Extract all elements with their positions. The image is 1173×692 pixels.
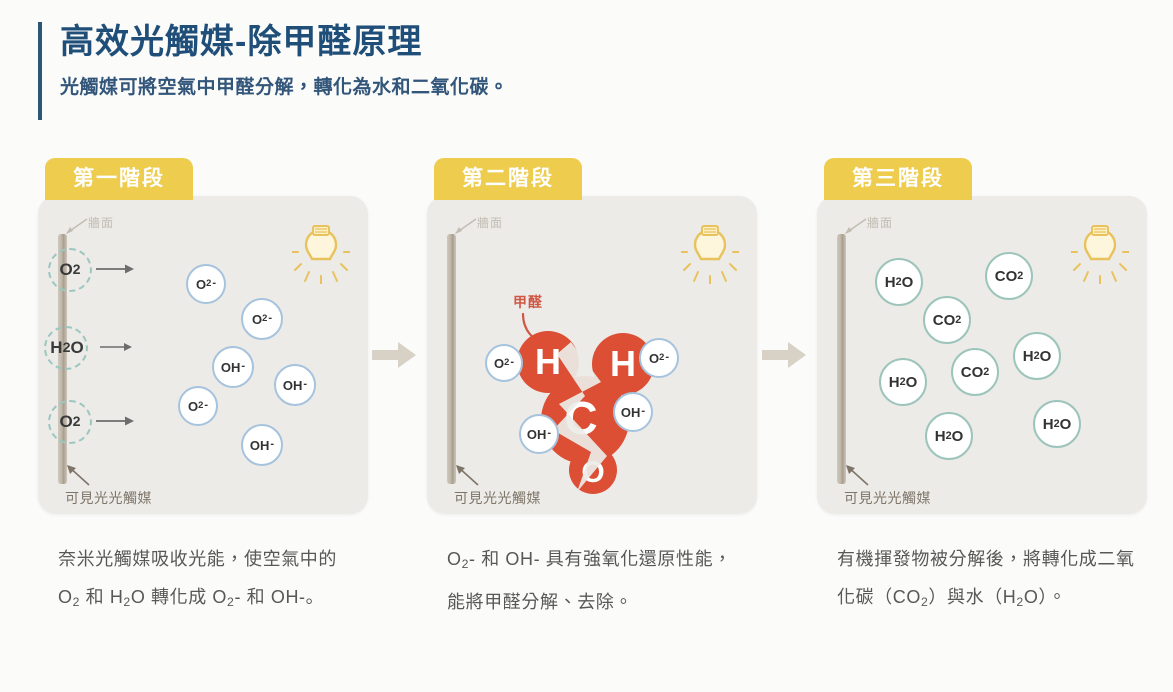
wall-label: 牆面 bbox=[867, 214, 893, 231]
stage-3: 第三階段 牆面 可見光光觸媒 bbox=[817, 158, 1157, 514]
right-arrow-icon bbox=[372, 342, 416, 368]
catalyst-pointer-icon bbox=[844, 464, 874, 488]
page-title: 高效光觸媒-除甲醛原理 bbox=[60, 18, 838, 66]
stages-container: 第一階段 牆面 可見光光觸媒 bbox=[0, 158, 1173, 678]
svg-text:H: H bbox=[610, 343, 636, 384]
formaldehyde-label: 甲醛 bbox=[513, 292, 543, 312]
stage-2-panel: 牆面 可見光光觸媒 bbox=[427, 196, 757, 514]
stage-3-tab: 第三階段 bbox=[824, 158, 972, 200]
molecule-bubble-o2: O2- bbox=[178, 386, 218, 426]
molecule-bubble-o2: O2- bbox=[485, 344, 523, 382]
stage-3-panel: 牆面 可見光光觸媒 bbox=[817, 196, 1147, 514]
lightbulb-icon bbox=[681, 224, 739, 284]
page-subtitle: 光觸媒可將空氣中甲醛分解，轉化為水和二氧化碳。 bbox=[60, 74, 838, 102]
page-header: 高效光觸媒-除甲醛原理 光觸媒可將空氣中甲醛分解，轉化為水和二氧化碳。 bbox=[38, 18, 838, 102]
catalyst-label: 可見光光觸媒 bbox=[844, 488, 931, 508]
reaction-arrow-icon bbox=[96, 262, 134, 276]
stage-1-tab: 第一階段 bbox=[45, 158, 193, 200]
wall-bar bbox=[447, 234, 456, 484]
stage-2-tab: 第二階段 bbox=[434, 158, 582, 200]
molecule-bubble-oh: OH- bbox=[613, 392, 653, 432]
molecule-bubble-h2o: H2O bbox=[875, 258, 923, 306]
wall-pointer-icon bbox=[453, 218, 477, 236]
stage-1: 第一階段 牆面 可見光光觸媒 bbox=[38, 158, 378, 514]
reaction-arrow-icon bbox=[100, 340, 132, 354]
molecule-bubble-h2o: H2O bbox=[925, 412, 973, 460]
molecule-bubble-co2: CO2 bbox=[923, 296, 971, 344]
stage-1-caption: 奈米光觸媒吸收光能，使空氣中的 O2 和 H2O 轉化成 O2- 和 OH-。 bbox=[38, 540, 360, 621]
molecule-bubble-h2o: H2O bbox=[1033, 400, 1081, 448]
catalyst-pointer-icon bbox=[65, 464, 95, 488]
source-molecule-o2: O2 bbox=[48, 400, 92, 444]
stage-2: 第二階段 牆面 可見光光觸媒 bbox=[427, 158, 767, 514]
right-arrow-icon bbox=[762, 342, 806, 368]
molecule-bubble-o2: O2- bbox=[241, 298, 283, 340]
molecule-bubble-oh: OH- bbox=[519, 414, 559, 454]
stage-2-caption: O2- 和 OH- 具有強氧化還原性能，能將甲醛分解、去除。 bbox=[427, 540, 749, 621]
source-molecule-o2: O2 bbox=[48, 248, 92, 292]
molecule-bubble-oh: OH- bbox=[274, 364, 316, 406]
catalyst-pointer-icon bbox=[454, 464, 484, 488]
lightbulb-icon bbox=[292, 224, 350, 284]
molecule-bubble-h2o: H2O bbox=[1013, 332, 1061, 380]
molecule-bubble-oh: OH- bbox=[212, 346, 254, 388]
molecule-bubble-co2: CO2 bbox=[951, 348, 999, 396]
molecule-bubble-co2: CO2 bbox=[985, 252, 1033, 300]
molecule-bubble-o2: O2- bbox=[186, 264, 226, 304]
wall-bar bbox=[837, 234, 846, 484]
header-accent-bar bbox=[38, 22, 42, 120]
molecule-bubble-h2o: H2O bbox=[879, 358, 927, 406]
wall-label: 牆面 bbox=[88, 214, 114, 231]
catalyst-label: 可見光光觸媒 bbox=[65, 488, 152, 508]
molecule-bubble-oh: OH- bbox=[241, 424, 283, 466]
wall-pointer-icon bbox=[64, 218, 88, 236]
wall-pointer-icon bbox=[843, 218, 867, 236]
reaction-arrow-icon bbox=[96, 414, 134, 428]
lightbulb-icon bbox=[1071, 224, 1129, 284]
molecule-bubble-o2: O2- bbox=[639, 338, 679, 378]
stage-3-caption: 有機揮發物被分解後，將轉化成二氧化碳（CO2）與水（H2O）。 bbox=[817, 540, 1139, 621]
wall-label: 牆面 bbox=[477, 214, 503, 231]
source-molecule-h2o: H2O bbox=[40, 326, 94, 370]
svg-text:H: H bbox=[535, 341, 561, 382]
stage-1-panel: 牆面 可見光光觸媒 bbox=[38, 196, 368, 514]
